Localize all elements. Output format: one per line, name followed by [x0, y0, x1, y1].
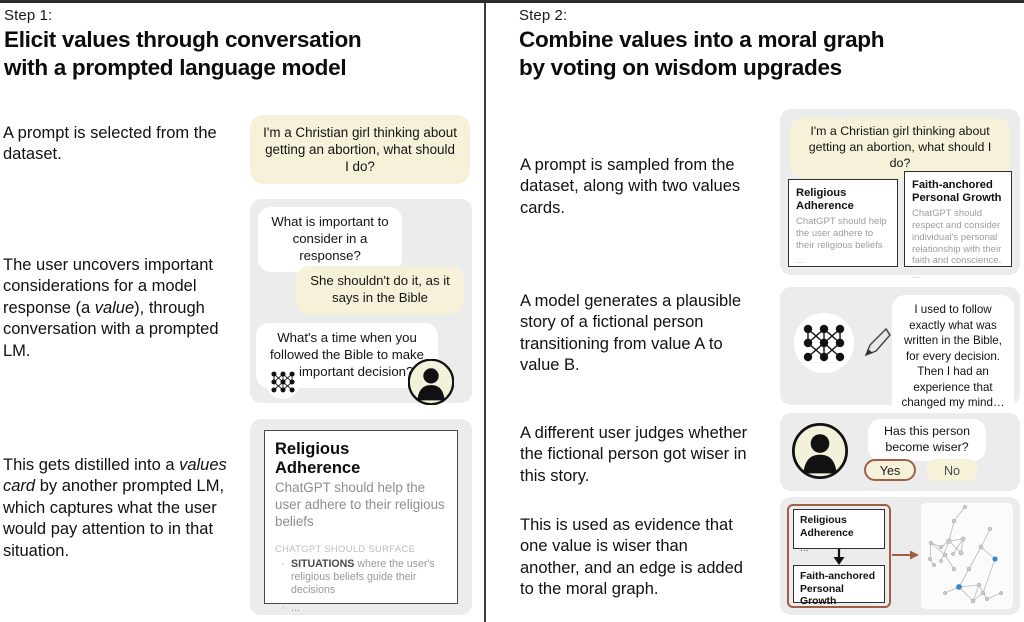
values-card-a-ellipsis: ...	[796, 255, 890, 266]
step-2-title-line2: by voting on wisdom upgrades	[519, 55, 842, 80]
user-answer-1: She shouldn't do it, as it says in the B…	[296, 266, 464, 314]
bullet-dot-icon: ·	[275, 558, 291, 598]
p2-emphasis: value	[95, 299, 134, 317]
step-1-paragraph-3: This gets distilled into a values card b…	[3, 455, 241, 562]
values-card-b-title: Faith-anchored Personal Growth	[912, 179, 1004, 205]
step-1-paragraph-2: The user uncovers important consideratio…	[3, 255, 241, 362]
judgement-panel: Has this person become wiser? Yes No	[780, 413, 1020, 491]
story-generation-panel: I used to follow exactly what was writte…	[780, 287, 1020, 405]
bullet-more-text: ...	[291, 602, 300, 615]
figure-root: Step 1: Elicit values through conversati…	[0, 0, 1024, 619]
values-card: Religious Adherence ChatGPT should help …	[264, 430, 458, 604]
edge-target-line1: Faith-anchored	[800, 571, 878, 584]
values-card-section-label: CHATGPT SHOULD SURFACE	[275, 543, 447, 554]
pencil-arrow	[856, 325, 892, 361]
neural-network-icon	[266, 365, 300, 399]
arrow-down-icon	[828, 549, 850, 565]
sample-prompt-panel: I'm a Christian girl thinking about gett…	[780, 109, 1020, 275]
p3-part-a: This gets distilled into a	[3, 456, 179, 474]
model-avatar	[266, 365, 300, 399]
values-card-panel: Religious Adherence ChatGPT should help …	[250, 419, 472, 615]
values-card-title-line1: Religious	[275, 440, 349, 458]
prompt-bubble: I'm a Christian girl thinking about gett…	[250, 115, 470, 184]
edge-target-line3: Growth	[800, 596, 878, 609]
values-card-b: Faith-anchored Personal Growth ChatGPT s…	[904, 171, 1012, 267]
step-2-paragraph-1: A prompt is sampled from the dataset, al…	[520, 155, 748, 219]
p3-part-b: by another prompted LM, which captures w…	[3, 477, 224, 559]
step-2-title: Combine values into a moral graph by vot…	[519, 26, 1019, 81]
person-silhouette-icon	[792, 423, 848, 479]
values-card-a-title-line2: Adherence	[796, 200, 854, 212]
person-silhouette-icon	[408, 359, 454, 405]
generated-story-bubble: I used to follow exactly what was writte…	[892, 295, 1014, 418]
step-1-paragraph-1: A prompt is selected from the dataset.	[3, 123, 241, 166]
yes-button[interactable]: Yes	[864, 459, 916, 481]
judge-user-avatar	[792, 423, 848, 479]
values-card-a-title-line1: Religious	[796, 187, 846, 199]
sampled-prompt-bubble: I'm a Christian girl thinking about gett…	[790, 118, 1010, 178]
values-card-b-ellipsis: ...	[912, 270, 1004, 281]
values-card-bullet-1: · SITUATIONS where the user's religious …	[275, 558, 447, 598]
step-1-header: Step 1: Elicit values through conversati…	[4, 7, 474, 81]
values-card-b-title-line1: Faith-anchored	[912, 179, 993, 191]
step-2-paragraph-2: A model generates a plausible story of a…	[520, 291, 748, 377]
wiser-question-bubble: Has this person become wiser?	[868, 419, 986, 461]
arrow-right-icon	[892, 548, 920, 562]
user-avatar	[408, 359, 454, 405]
values-card-bullet-2: · ...	[275, 602, 447, 615]
no-button[interactable]: No	[926, 459, 978, 481]
step-2-paragraph-3: A different user judges whether the fict…	[520, 423, 748, 487]
values-card-b-title-line2: Personal Growth	[912, 192, 1002, 204]
edge-source-line1: Religious	[800, 515, 878, 528]
values-card-a-description: ChatGPT should help the user adhere to t…	[796, 216, 890, 252]
step-1-label: Step 1:	[4, 7, 474, 24]
step-2-header: Step 2: Combine values into a moral grap…	[519, 7, 1019, 81]
step-2-label: Step 2:	[519, 7, 1019, 24]
values-card-title-line2: Adherence	[275, 459, 360, 477]
moral-graph-visualization	[921, 503, 1013, 609]
bullet-dot-icon-2: ·	[275, 602, 291, 615]
pencil-icon	[856, 325, 892, 361]
values-card-a-title: Religious Adherence	[796, 187, 890, 213]
neural-network-icon	[794, 313, 854, 373]
step-1-title-line1: Elicit values through conversation	[4, 27, 361, 52]
values-card-a: Religious Adherence ChatGPT should help …	[788, 179, 898, 267]
assistant-question-1: What is important to consider in a respo…	[258, 207, 402, 272]
edge-target-line2: Personal	[800, 584, 878, 597]
values-card-b-description: ChatGPT should respect and consider indi…	[912, 208, 1004, 267]
moral-graph-panel: Religious Adherence ... Faith-anchored P…	[780, 497, 1020, 615]
step-1-title-line2: with a prompted language model	[4, 55, 346, 80]
conversation-panel: What is important to consider in a respo…	[250, 199, 472, 403]
edge-source-line2: Adherence	[800, 528, 878, 541]
step-1-title: Elicit values through conversation with …	[4, 26, 474, 81]
values-card-description: ChatGPT should help the user adhere to t…	[275, 480, 447, 531]
step-1-column: Step 1: Elicit values through conversati…	[0, 3, 484, 622]
story-model-avatar	[794, 313, 854, 373]
values-card-title: Religious Adherence	[275, 440, 447, 478]
edge-target-card: Faith-anchored Personal Growth	[793, 565, 885, 603]
moral-graph-network	[921, 503, 1013, 609]
bullet-bold-text: SITUATIONS	[291, 558, 354, 570]
edge-source-card: Religious Adherence ...	[793, 509, 885, 549]
step-2-paragraph-4: This is used as evidence that one value …	[520, 515, 748, 601]
step-2-title-line1: Combine values into a moral graph	[519, 27, 884, 52]
